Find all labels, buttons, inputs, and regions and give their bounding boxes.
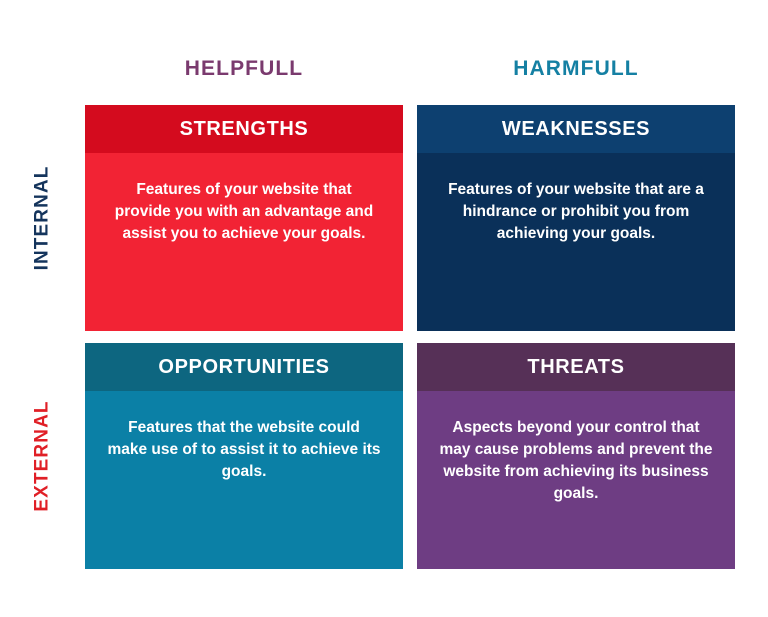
quadrant-opportunities-body: Features that the website could make use… [85, 391, 403, 569]
quadrant-threats: THREATS Aspects beyond your control that… [417, 343, 735, 569]
quadrant-threats-body: Aspects beyond your control that may cau… [417, 391, 735, 569]
quadrant-opportunities: OPPORTUNITIES Features that the website … [85, 343, 403, 569]
row-label-internal: INTERNAL [32, 166, 54, 271]
column-header-harmfull: HARMFULL [417, 55, 735, 83]
row-label-external-container: EXTERNAL [0, 343, 85, 569]
quadrant-threats-title: THREATS [417, 343, 735, 391]
column-header-helpfull: HELPFULL [85, 55, 403, 83]
swot-matrix: HELPFULL HARMFULL INTERNAL EXTERNAL STRE… [0, 0, 768, 617]
quadrant-weaknesses-title: WEAKNESSES [417, 105, 735, 153]
quadrant-weaknesses: WEAKNESSES Features of your website that… [417, 105, 735, 331]
quadrant-strengths: STRENGTHS Features of your website that … [85, 105, 403, 331]
quadrant-strengths-body: Features of your website that provide yo… [85, 153, 403, 331]
row-label-internal-container: INTERNAL [0, 105, 85, 331]
quadrant-weaknesses-body: Features of your website that are a hind… [417, 153, 735, 331]
row-label-external: EXTERNAL [32, 400, 54, 511]
quadrant-strengths-title: STRENGTHS [85, 105, 403, 153]
quadrant-opportunities-title: OPPORTUNITIES [85, 343, 403, 391]
